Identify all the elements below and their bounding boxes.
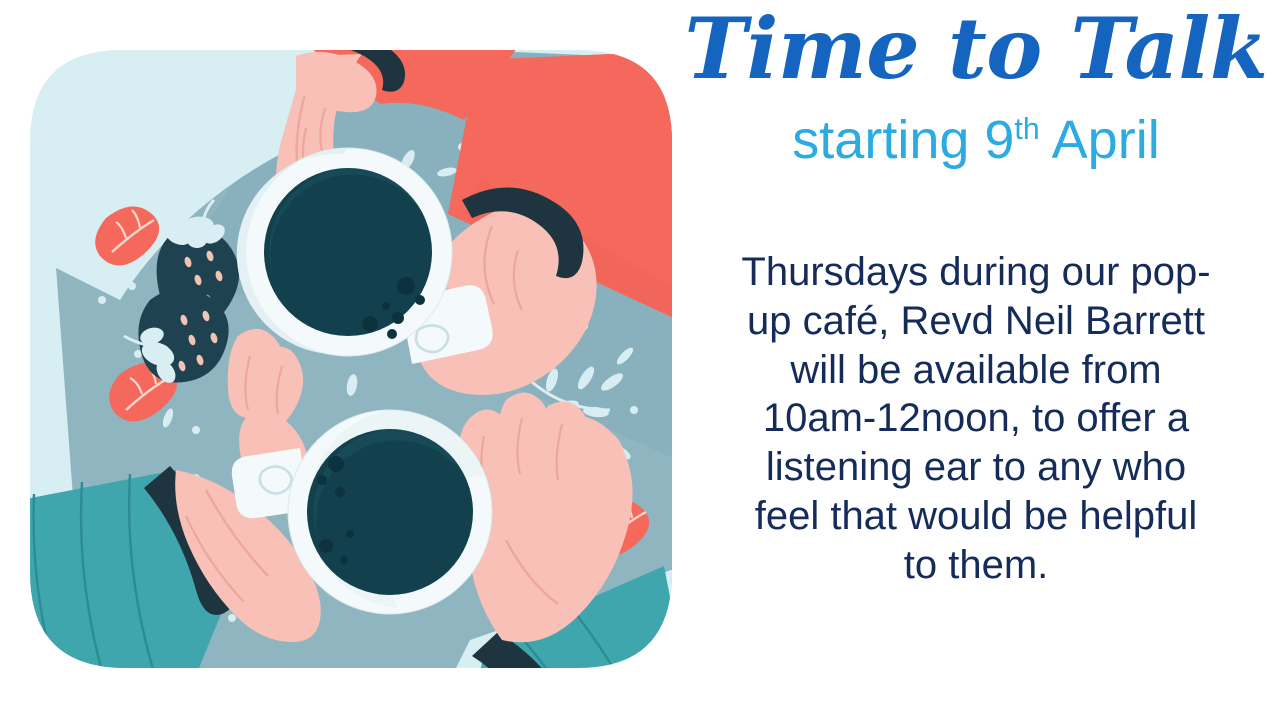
- body-line: listening ear to any who: [692, 443, 1260, 492]
- body-line: 10am-12noon, to offer a: [692, 394, 1260, 443]
- subtitle: starting 9th April: [672, 112, 1280, 169]
- coffee-conversation-illustration: [0, 0, 680, 720]
- subtitle-prefix: starting 9: [792, 110, 1014, 170]
- subtitle-suffix: April: [1040, 110, 1160, 170]
- page-title: Time to Talk: [672, 6, 1280, 92]
- body-line: feel that would be helpful: [692, 492, 1260, 541]
- body-line: will be available from: [692, 346, 1260, 395]
- body-line: up café, Revd Neil Barrett: [692, 297, 1260, 346]
- poster-canvas: Time to Talk starting 9th April Thursday…: [0, 0, 1280, 720]
- body-line: Thursdays during our pop-: [692, 248, 1260, 297]
- body-copy: Thursdays during our pop- up café, Revd …: [692, 248, 1260, 590]
- text-panel: Time to Talk starting 9th April Thursday…: [672, 0, 1280, 720]
- body-line: to them.: [692, 541, 1260, 590]
- subtitle-ordinal: th: [1014, 113, 1039, 146]
- illustration-panel: [0, 0, 680, 720]
